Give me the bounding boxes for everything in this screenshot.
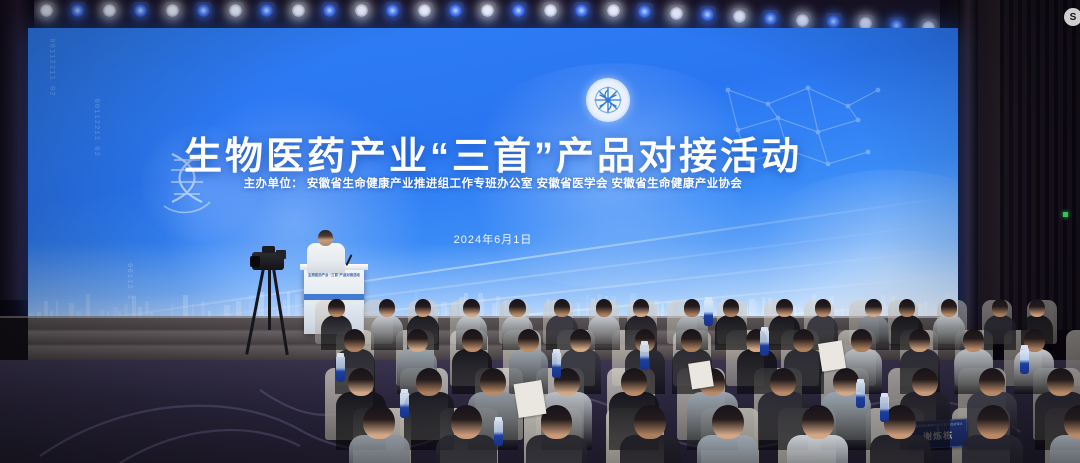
led-backdrop-screen: 00112211 0200112211 0200112 2: [28, 28, 958, 330]
audience-head: [596, 299, 612, 317]
audience-head: [992, 299, 1008, 317]
stage-light-white: [796, 14, 809, 27]
camera-top-handle: [262, 246, 275, 253]
document-paper: [818, 340, 846, 371]
stage-light-blue: [512, 4, 525, 17]
stage-light-white: [544, 4, 557, 17]
stage-light-white: [481, 4, 494, 17]
audience-head: [802, 405, 834, 439]
bottle-cap: [337, 353, 344, 357]
stage-light-blue: [386, 4, 399, 17]
stage-light-white: [229, 4, 242, 17]
audience-head: [793, 329, 814, 351]
audience-head: [518, 329, 539, 351]
status-led-indicator: [1063, 212, 1068, 217]
stage-light-blue: [260, 4, 273, 17]
audience-member: [870, 435, 931, 463]
audience-head: [328, 299, 344, 317]
audience-head: [977, 405, 1009, 439]
event-emblem-icon: [586, 78, 630, 122]
audience-head: [416, 368, 442, 396]
water-bottle: [336, 356, 345, 382]
audience-head: [480, 368, 506, 396]
audience-member: [1050, 435, 1080, 463]
audience-head: [912, 368, 938, 396]
stage-left-shadow: [0, 318, 28, 364]
bottle-cap: [705, 297, 712, 301]
audience-member: [984, 315, 1016, 350]
document-paper: [514, 380, 547, 418]
stage-light-blue: [638, 5, 651, 18]
audience-head: [941, 299, 957, 317]
water-bottle: [640, 344, 649, 370]
stage-light-white: [166, 4, 179, 17]
water-bottle: [552, 352, 561, 378]
water-bottle: [400, 392, 409, 418]
camera-lens-icon: [250, 256, 260, 267]
bottle-cap: [881, 393, 888, 397]
event-date: 2024年6月1日: [28, 231, 958, 247]
audience-head: [884, 405, 916, 439]
audience-head: [684, 299, 700, 317]
bottle-cap: [553, 349, 560, 353]
stage-light-white: [670, 7, 683, 20]
bottle-cap: [857, 379, 864, 383]
bottle-cap: [1021, 345, 1028, 349]
audience-member: [962, 435, 1023, 463]
audience-head: [344, 329, 365, 351]
audience-head: [407, 329, 428, 351]
stage-light-white: [607, 4, 620, 17]
audience-head: [963, 329, 984, 351]
event-organizers: 主办单位： 安徽省生命健康产业推进组工作专班办公室 安徽省医学会 安徽省生命健康…: [28, 175, 958, 191]
audience-head: [509, 299, 525, 317]
audience-head: [379, 299, 395, 317]
event-title: 生物医药产业“三首”产品对接活动: [28, 125, 958, 180]
audience-head: [554, 299, 570, 317]
stage-light-white: [103, 4, 116, 17]
conference-photo: 00112211 0200112211 0200112 2: [0, 0, 1080, 463]
audience-head: [979, 368, 1005, 396]
audience-head: [415, 299, 431, 317]
audience-member: [371, 315, 403, 350]
audience-head: [463, 299, 479, 317]
camera-monitor: [276, 250, 286, 259]
audience-head: [363, 405, 395, 439]
speaker-body: [307, 243, 345, 273]
audience-head: [723, 299, 739, 317]
audience-head: [634, 405, 666, 439]
stage-light-white: [733, 10, 746, 23]
water-bottle: [880, 396, 889, 422]
audience-head: [621, 368, 647, 396]
bottle-cap: [641, 341, 648, 345]
audience-head: [899, 299, 915, 317]
bottle-cap: [495, 417, 502, 421]
audience-member: [787, 435, 848, 463]
audience-head: [348, 368, 374, 396]
stage-light-white: [292, 4, 305, 17]
stage-light-white: [40, 4, 53, 17]
stage-light-white: [355, 4, 368, 17]
audience-head: [681, 329, 702, 351]
bottle-cap: [761, 327, 768, 331]
tripod-center-column: [268, 268, 271, 330]
water-bottle: [856, 382, 865, 408]
audience-head: [1029, 299, 1045, 317]
audience-member: [715, 315, 747, 350]
stage-light-blue: [197, 4, 210, 17]
speaker-head: [318, 230, 333, 246]
wall-slat-panel: [1000, 0, 1080, 330]
watermark-badge: S: [1064, 8, 1080, 26]
water-bottle: [760, 330, 769, 356]
podium-text: 生物医药产业 “三首”产品对接活动: [308, 273, 360, 278]
stage-light-white: [418, 4, 431, 17]
audience-member: [933, 315, 965, 350]
audience-member: [588, 315, 620, 350]
stage-light-blue: [575, 4, 588, 17]
audience-head: [451, 405, 483, 439]
binary-decoration-text: 00112211 02: [47, 38, 55, 97]
audience-head: [909, 329, 930, 351]
stage-light-blue: [323, 4, 336, 17]
stage-light-blue: [134, 4, 147, 17]
bottle-cap: [401, 389, 408, 393]
audience-head: [815, 299, 831, 317]
audience-head: [462, 329, 483, 351]
audience-member: [436, 435, 497, 463]
audience-head: [633, 299, 649, 317]
stage-light-blue: [71, 4, 84, 17]
audience-head: [1047, 368, 1073, 396]
audience-member: [349, 435, 410, 463]
audience-head: [770, 368, 796, 396]
audience-head: [776, 299, 792, 317]
audience-member: [697, 435, 758, 463]
water-bottle: [1020, 348, 1029, 374]
audience-head: [851, 329, 872, 351]
audience-member: [620, 435, 681, 463]
water-bottle: [494, 420, 503, 446]
audience-member: [526, 435, 587, 463]
stage-light-blue: [764, 12, 777, 25]
audience-head: [865, 299, 881, 317]
document-paper: [688, 360, 714, 389]
audience-head: [712, 405, 744, 439]
stage-light-blue: [449, 4, 462, 17]
audience-head: [570, 329, 591, 351]
wall-pillar: [958, 0, 978, 330]
water-bottle: [704, 300, 713, 326]
